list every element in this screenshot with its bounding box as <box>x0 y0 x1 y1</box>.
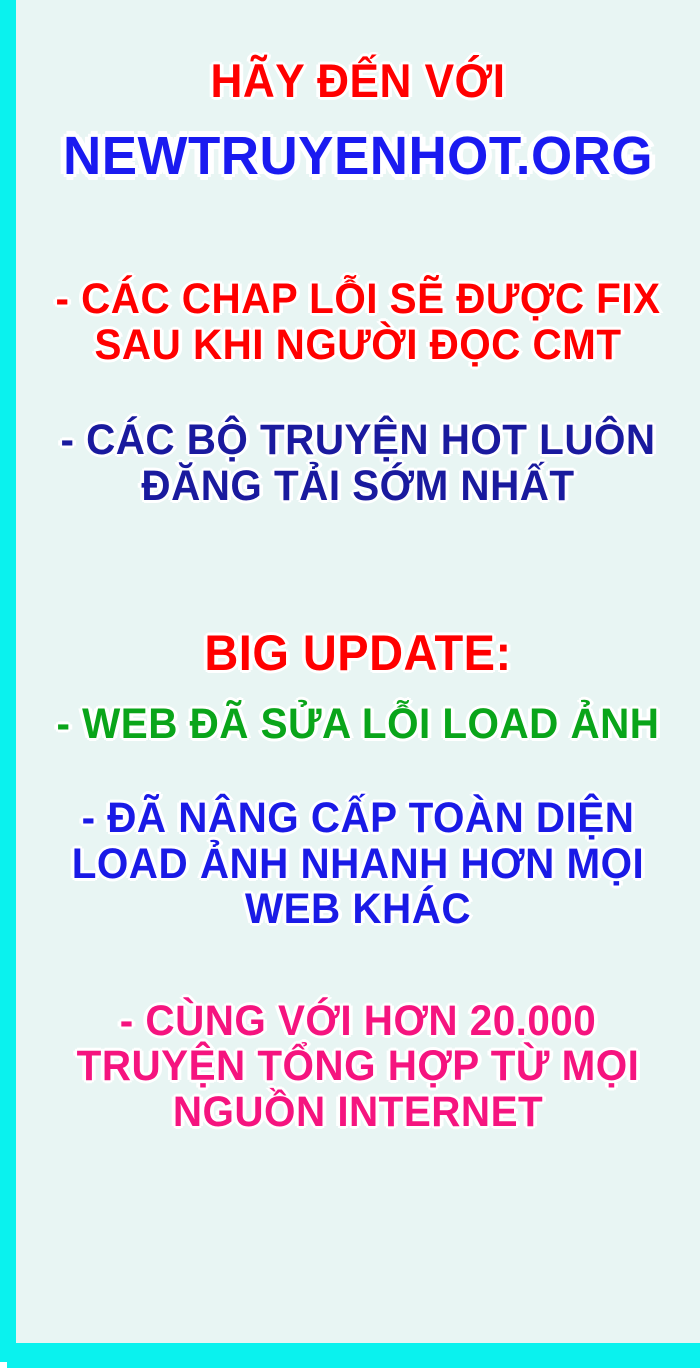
bottom-left-sliver <box>0 1362 7 1368</box>
note-item-fix: - CÁC CHAP LỖI SẼ ĐƯỢC FIX SAU KHI NGƯỜI… <box>16 277 700 368</box>
upgrade-line-2: LOAD ẢNH NHANH HƠN MỌI <box>37 842 680 888</box>
upgrade-line-1: - ĐÃ NÂNG CẤP TOÀN DIỆN <box>37 796 680 842</box>
note-item-hot: - CÁC BỘ TRUYỆN HOT LUÔN ĐĂNG TẢI SỚM NH… <box>16 418 700 509</box>
spacer <box>16 680 700 702</box>
intro-block: HÃY ĐẾN VỚI NEWTRUYENHOT.ORG <box>16 56 700 185</box>
note-hot-line-1: - CÁC BỘ TRUYỆN HOT LUÔN <box>37 418 680 464</box>
count-line-3: NGUỒN INTERNET <box>37 1090 680 1136</box>
spacer <box>16 368 700 418</box>
count-block: - CÙNG VỚI HƠN 20.000 TRUYỆN TỔNG HỢP TỪ… <box>16 999 700 1136</box>
count-line-1: - CÙNG VỚI HƠN 20.000 <box>37 999 680 1045</box>
promo-banner: HÃY ĐẾN VỚI NEWTRUYENHOT.ORG - CÁC CHAP … <box>0 0 700 1368</box>
promo-panel: HÃY ĐẾN VỚI NEWTRUYENHOT.ORG - CÁC CHAP … <box>16 0 700 1343</box>
count-line-2: TRUYỆN TỔNG HỢP TỪ MỌI <box>37 1044 680 1090</box>
intro-headline: HÃY ĐẾN VỚI <box>37 56 680 106</box>
spacer <box>16 106 700 128</box>
note-hot-line-2: ĐĂNG TẢI SỚM NHẤT <box>37 464 680 510</box>
big-update-title: BIG UPDATE: <box>37 627 680 680</box>
note-fix-line-2: SAU KHI NGƯỜI ĐỌC CMT <box>37 323 680 369</box>
upgrade-line-3: WEB KHÁC <box>37 887 680 933</box>
site-domain-text[interactable]: NEWTRUYENHOT.ORG <box>23 128 693 185</box>
upgrade-block: - ĐÃ NÂNG CẤP TOÀN DIỆN LOAD ẢNH NHANH H… <box>16 796 700 933</box>
notes-block: - CÁC CHAP LỖI SẼ ĐƯỢC FIX SAU KHI NGƯỜI… <box>16 277 700 509</box>
note-fix-line-1: - CÁC CHAP LỖI SẼ ĐƯỢC FIX <box>37 277 680 323</box>
big-update-item-fix-image: - WEB ĐÃ SỬA LỖI LOAD ẢNH <box>37 702 680 748</box>
big-update-block: BIG UPDATE: - WEB ĐÃ SỬA LỖI LOAD ẢNH <box>16 627 700 748</box>
